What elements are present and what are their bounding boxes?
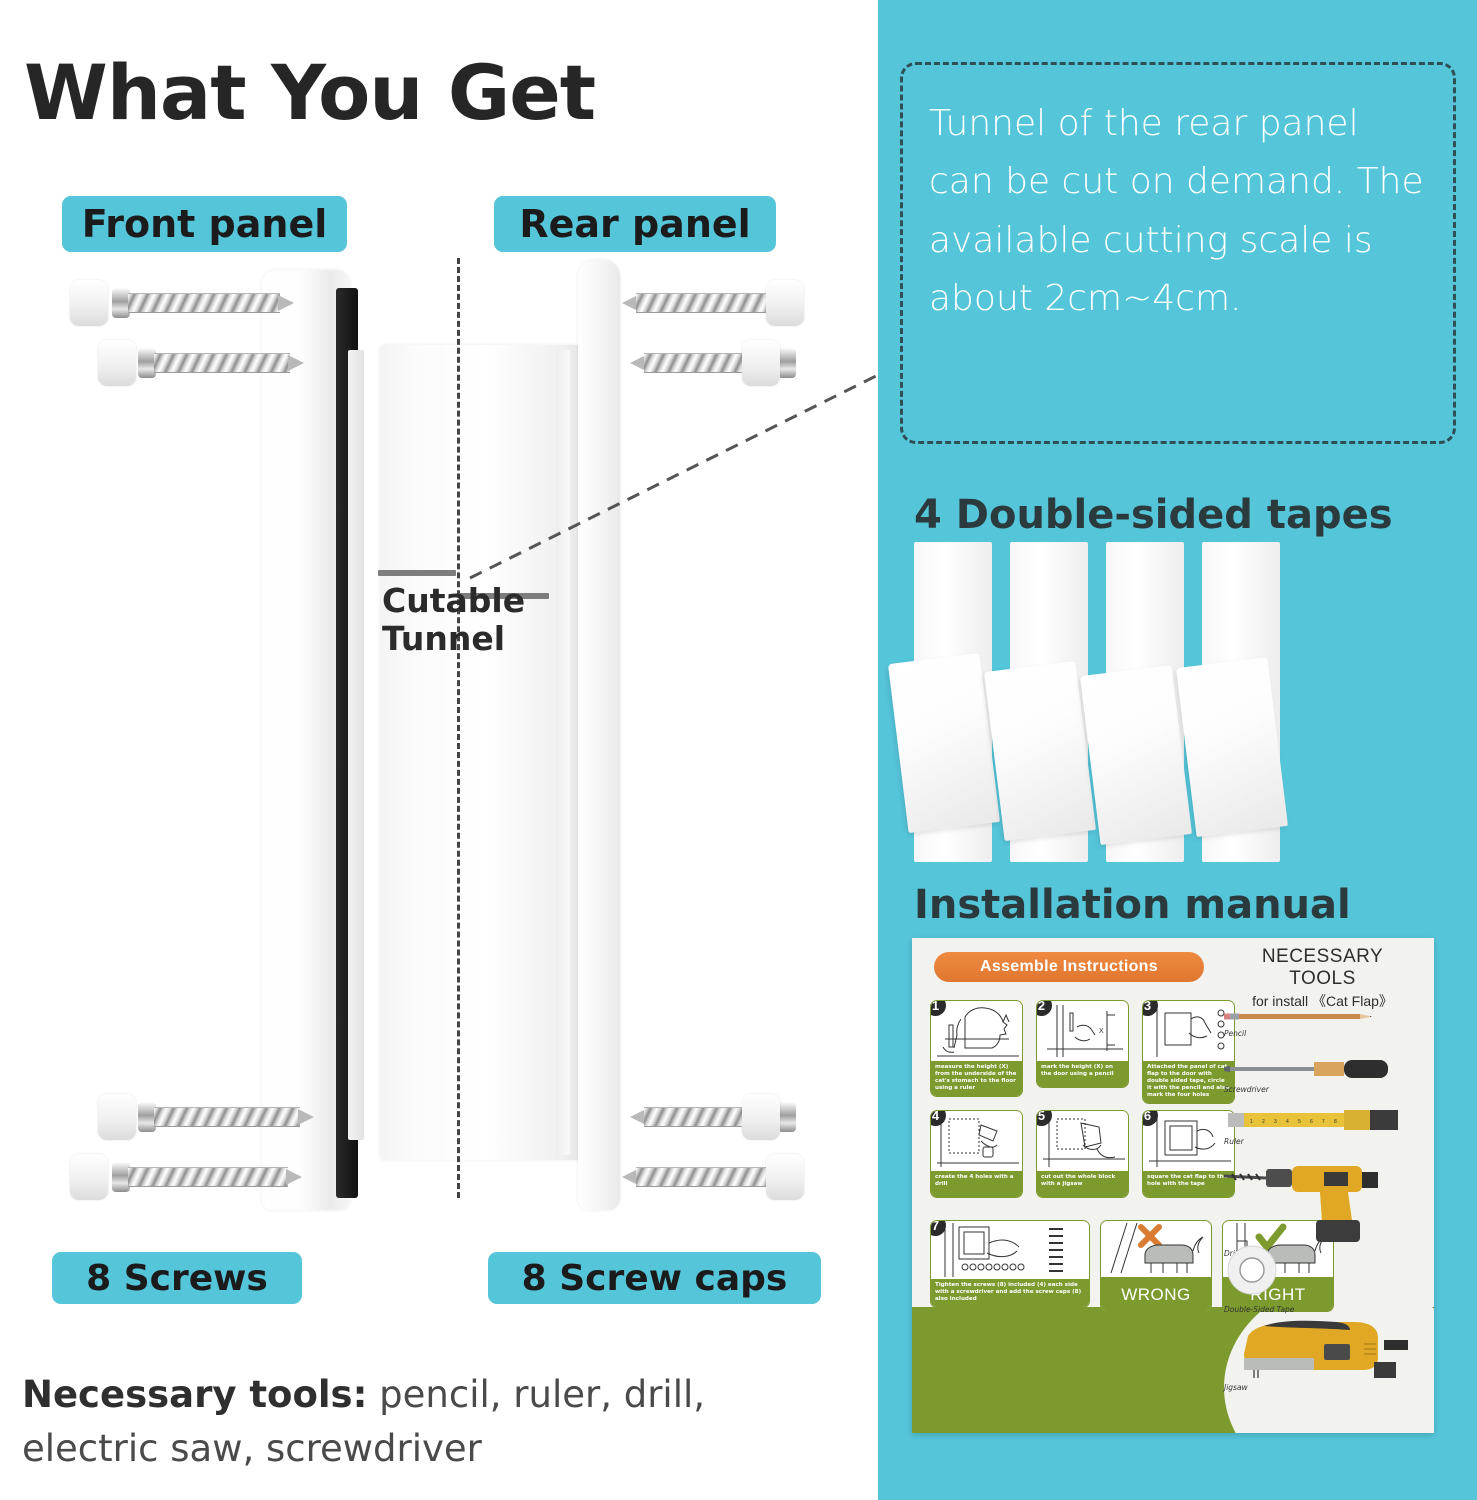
label-8-screws: 8 Screws	[52, 1252, 302, 1304]
screwdriver-icon	[1224, 1058, 1394, 1080]
callout-text: Tunnel of the rear panel can be cut on d…	[929, 95, 1427, 328]
left-content-column: What You Get Front panel Rear panel Cuta…	[0, 0, 878, 1500]
pencil-icon	[1224, 1010, 1374, 1024]
tighten-screws-icon	[931, 1221, 1090, 1279]
screw-shaft	[154, 353, 290, 373]
tool-screwdriver: Screwdriver	[1224, 1058, 1394, 1094]
step-5-caption: cut out the whole block with a jigsaw	[1037, 1171, 1128, 1197]
screw-cap-top-right-2	[742, 340, 780, 386]
right-teal-column: Tunnel of the rear panel can be cut on d…	[878, 0, 1477, 1500]
step-6-caption: square the cat flap to the hole with the…	[1143, 1171, 1234, 1197]
step-4-caption: create the 4 holes with a drill	[931, 1171, 1022, 1197]
drill-icon	[1224, 1166, 1414, 1246]
pencil-label: Pencil	[1224, 1029, 1374, 1038]
manual-heading: Installation manual	[914, 882, 1351, 928]
label-rear-panel: Rear panel	[494, 196, 776, 252]
screw-bottom-left-1	[138, 1102, 314, 1132]
svg-text:X: X	[1099, 1028, 1104, 1035]
wrong-art	[1101, 1221, 1211, 1277]
svg-text:7: 7	[1322, 1119, 1325, 1125]
cut-line-dashed	[457, 258, 460, 1198]
rear-panel-part	[578, 260, 620, 1210]
screwdriver-label: Screwdriver	[1224, 1085, 1394, 1094]
screw-top-left-1	[112, 288, 294, 318]
cutable-line-2: Tunnel	[382, 620, 525, 658]
manual-step-5: 5 cut out the whole block with a jigsaw	[1036, 1110, 1129, 1198]
necessary-tools-title: NECESSARY TOOLS for install 《Cat Flap》	[1220, 946, 1425, 1011]
screw-cap-bottom-left-1	[98, 1094, 136, 1140]
jigsaw-icon	[1224, 1318, 1414, 1382]
screw-shaft	[128, 293, 280, 313]
step-7-art	[931, 1221, 1089, 1279]
svg-text:3: 3	[1274, 1119, 1277, 1125]
screw-cap-top-left-1	[70, 280, 108, 326]
label-8-screw-caps: 8 Screw caps	[488, 1252, 821, 1304]
screw-head	[778, 1102, 796, 1132]
tools-title-line3: for install 《Cat Flap》	[1220, 991, 1425, 1011]
double-sided-tape-icon	[1224, 1244, 1290, 1300]
tool-ruler: 123 456 78 Ruler	[1224, 1110, 1399, 1146]
manual-step-4: 4 create the 4 holes with a drill	[930, 1110, 1023, 1198]
step-2-caption: mark the height (X) on the door using a …	[1037, 1061, 1128, 1087]
screw-cap-bottom-left-2	[70, 1154, 108, 1200]
verdict-wrong: WRONG	[1100, 1220, 1212, 1312]
manual-step-1: 1 measure the height (X) from the unders…	[930, 1000, 1023, 1097]
product-illustration: Cutable Tunnel	[0, 250, 878, 1220]
step-3-caption: Attached the panel of cat flap to the do…	[1143, 1061, 1234, 1103]
screw-caps-text: 8 Screw caps	[522, 1258, 788, 1299]
screw-bottom-left-2	[112, 1162, 302, 1192]
installation-manual-sheet: Assemble Instructions NECESSARY TOOLS fo…	[912, 938, 1434, 1433]
label-front-panel: Front panel	[62, 196, 347, 252]
svg-text:8: 8	[1334, 1119, 1337, 1125]
svg-text:4: 4	[1286, 1119, 1289, 1125]
cut-tick-upper	[378, 570, 456, 576]
manual-step-2: X 2 mark the height (X) on the door usin…	[1036, 1000, 1129, 1088]
screw-tip	[288, 355, 304, 371]
svg-text:2: 2	[1262, 1119, 1265, 1125]
screw-cap-top-left-2	[98, 340, 136, 386]
necessary-tools-label: Necessary tools:	[22, 1373, 367, 1416]
screw-top-left-2	[138, 348, 304, 378]
screw-cap-bottom-right-2	[766, 1154, 804, 1200]
cutable-line-1: Cutable	[382, 582, 525, 620]
double-sided-tapes-group	[914, 542, 1434, 862]
jigsaw-label: Jigsaw	[1224, 1383, 1414, 1392]
screw-tip	[286, 1169, 302, 1185]
screw-cap-top-right-1	[766, 280, 804, 326]
screw-shaft	[154, 1107, 300, 1127]
assemble-instructions-pill: Assemble Instructions	[934, 952, 1204, 982]
double-sided-tape-label: Double-Sided Tape	[1224, 1305, 1294, 1314]
ruler-label: Ruler	[1224, 1137, 1399, 1146]
screw-shaft	[636, 293, 786, 313]
tapes-heading: 4 Double-sided tapes	[914, 492, 1393, 538]
screws-text: 8 Screws	[86, 1258, 268, 1299]
step-7-caption: Tighten the screws (8) included (4) each…	[931, 1279, 1089, 1307]
assemble-pill-text: Assemble Instructions	[980, 958, 1158, 976]
svg-text:5: 5	[1298, 1119, 1301, 1125]
wrong-cat-icon	[1101, 1221, 1212, 1277]
screw-tip	[298, 1109, 314, 1125]
cutting-scale-callout: Tunnel of the rear panel can be cut on d…	[900, 62, 1456, 444]
manual-step-6: 6 square the cat flap to the hole with t…	[1142, 1110, 1235, 1198]
tunnel-inner-edge	[556, 350, 570, 1155]
rear-panel-text: Rear panel	[519, 202, 750, 246]
cutable-tunnel-label: Cutable Tunnel	[382, 582, 525, 658]
tools-title-line1: NECESSARY	[1220, 946, 1425, 968]
screw-shaft	[636, 1167, 786, 1187]
tool-jigsaw: Jigsaw	[1224, 1318, 1414, 1392]
page-title: What You Get	[24, 48, 595, 137]
ruler-icon: 123 456 78	[1224, 1110, 1399, 1132]
wrong-label: WRONG	[1101, 1277, 1211, 1312]
svg-text:6: 6	[1310, 1119, 1313, 1125]
screw-shaft	[128, 1167, 288, 1187]
step-1-caption: measure the height (X) from the undersid…	[931, 1061, 1022, 1096]
front-panel-lip	[348, 350, 364, 1140]
screw-cap-bottom-right-1	[742, 1094, 780, 1140]
necessary-tools-note: Necessary tools: pencil, ruler, drill, e…	[22, 1368, 852, 1475]
tools-title-line2: TOOLS	[1220, 968, 1425, 990]
tool-pencil: Pencil	[1224, 1010, 1374, 1038]
manual-step-7: 7 Tighten the screws (8) included (4) ea…	[930, 1220, 1090, 1308]
svg-text:1: 1	[1250, 1119, 1253, 1125]
screw-head	[778, 348, 796, 378]
screw-tip	[278, 295, 294, 311]
manual-step-3: 3 Attached the panel of cat flap to the …	[1142, 1000, 1235, 1104]
tool-double-sided-tape: Double-Sided Tape	[1224, 1244, 1294, 1314]
tunnel-part	[380, 345, 585, 1160]
front-panel-text: Front panel	[82, 202, 328, 246]
